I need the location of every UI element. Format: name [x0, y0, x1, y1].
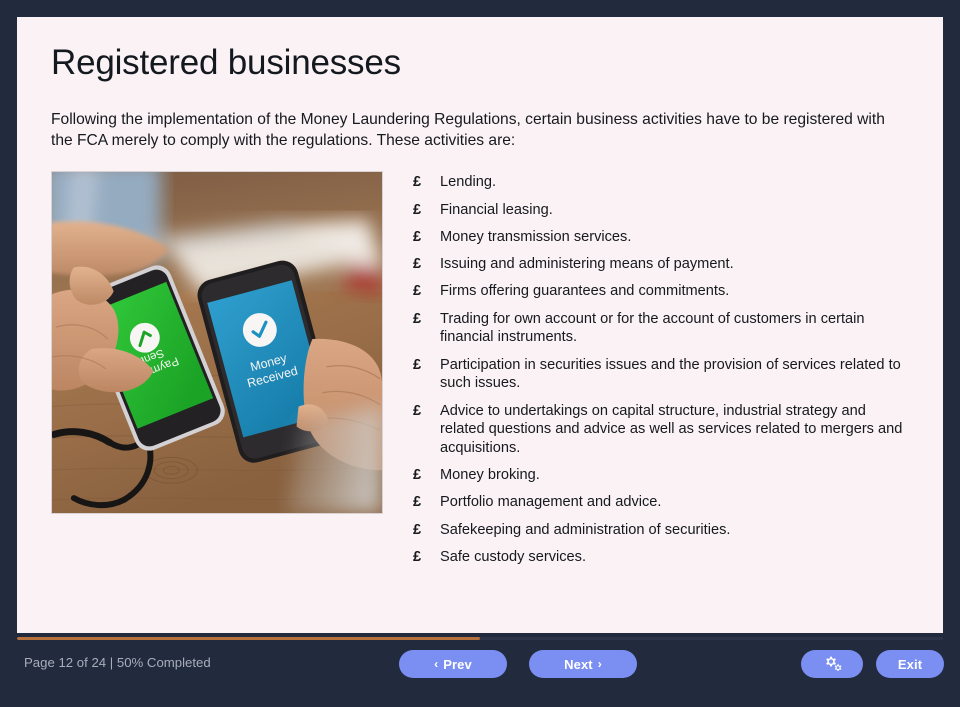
list-item-label: Lending. [440, 174, 496, 190]
pound-bullet-icon: £ [413, 493, 421, 512]
pound-bullet-icon: £ [413, 521, 421, 540]
list-item-label: Advice to undertakings on capital struct… [440, 403, 902, 456]
slide-photo: Money Received [51, 171, 383, 514]
list-item: £Money broking. [413, 466, 909, 485]
list-item-label: Money broking. [440, 467, 540, 483]
pound-bullet-icon: £ [413, 228, 421, 247]
list-item-label: Safe custody services. [440, 549, 586, 565]
prev-button-label: Prev [443, 657, 472, 672]
pound-bullet-icon: £ [413, 356, 421, 375]
list-item: £Safe custody services. [413, 548, 909, 567]
slide-body: Money Received [51, 171, 909, 575]
list-item-label: Portfolio management and advice. [440, 494, 661, 510]
slide-card: Registered businesses Following the impl… [17, 17, 943, 633]
list-item: £Participation in securities issues and … [413, 356, 909, 393]
settings-button[interactable] [801, 650, 863, 678]
slide-intro-paragraph: Following the implementation of the Mone… [51, 109, 909, 151]
list-item-label: Firms offering guarantees and commitment… [440, 283, 729, 299]
exit-button[interactable]: Exit [876, 650, 944, 678]
slide-content: Registered businesses Following the impl… [17, 17, 943, 575]
list-item-label: Safekeeping and administration of securi… [440, 522, 730, 538]
list-item: £Trading for own account or for the acco… [413, 310, 909, 347]
cogs-icon [823, 656, 842, 673]
progress-status-label: Page 12 of 24 | 50% Completed [24, 655, 211, 670]
pound-bullet-icon: £ [413, 548, 421, 567]
prev-button[interactable]: ‹ Prev [399, 650, 507, 678]
utility-controls: Exit [801, 650, 944, 678]
list-item: £Advice to undertakings on capital struc… [413, 402, 909, 458]
exit-button-label: Exit [898, 657, 922, 672]
page-title: Registered businesses [51, 43, 909, 83]
chevron-left-icon: ‹ [434, 658, 438, 670]
list-item: £Financial leasing. [413, 201, 909, 220]
navigation-controls: ‹ Prev Next › [399, 650, 637, 678]
pound-bullet-icon: £ [413, 310, 421, 329]
pound-bullet-icon: £ [413, 201, 421, 220]
next-button[interactable]: Next › [529, 650, 637, 678]
list-item-label: Financial leasing. [440, 202, 553, 218]
list-item: £Money transmission services. [413, 228, 909, 247]
list-item: £Portfolio management and advice. [413, 493, 909, 512]
pound-bullet-icon: £ [413, 173, 421, 192]
list-item: £Lending. [413, 173, 909, 192]
list-item-label: Issuing and administering means of payme… [440, 256, 734, 272]
footer-bar: Page 12 of 24 | 50% Completed ‹ Prev Nex… [0, 642, 960, 707]
pound-bullet-icon: £ [413, 402, 421, 421]
pound-bullet-icon: £ [413, 282, 421, 301]
list-item-label: Trading for own account or for the accou… [440, 311, 865, 346]
list-item: £Firms offering guarantees and commitmen… [413, 282, 909, 301]
pound-bullet-icon: £ [413, 255, 421, 274]
pound-bullet-icon: £ [413, 466, 421, 485]
payment-photo-illustration: Money Received [52, 172, 382, 513]
progress-bar-track [17, 637, 943, 640]
chevron-right-icon: › [598, 658, 602, 670]
list-item: £Issuing and administering means of paym… [413, 255, 909, 274]
list-item: £Safekeeping and administration of secur… [413, 521, 909, 540]
list-item-label: Participation in securities issues and t… [440, 357, 901, 392]
registered-activities-list: £Lending.£Financial leasing.£Money trans… [413, 171, 909, 575]
list-item-label: Money transmission services. [440, 229, 631, 245]
next-button-label: Next [564, 657, 593, 672]
progress-bar-fill [17, 637, 480, 640]
